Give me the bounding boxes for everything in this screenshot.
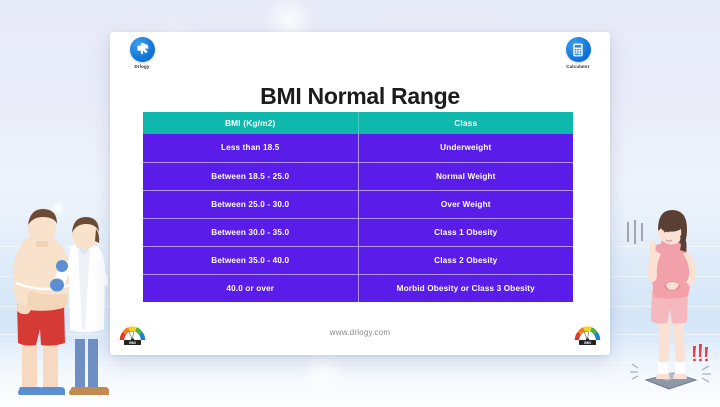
cell-bmi-range: Between 30.0 - 35.0 [143, 218, 358, 246]
illustration-woman-on-weighing-scale [614, 198, 718, 403]
table-header-class: Class [358, 112, 573, 134]
cell-bmi-class: Normal Weight [358, 162, 573, 190]
table-header-row: BMI (Kg/m2) Class [143, 112, 573, 134]
table-row: 40.0 or over Morbid Obesity or Class 3 O… [143, 274, 573, 302]
bmi-gauge-label: BMI [129, 341, 136, 345]
badge-drlogy: Drlogy [120, 32, 164, 86]
cell-bmi-class: Underweight [358, 134, 573, 162]
cell-bmi-class: Morbid Obesity or Class 3 Obesity [358, 274, 573, 302]
page-title: BMI Normal Range [110, 83, 610, 110]
cell-bmi-range: Between 25.0 - 30.0 [143, 190, 358, 218]
cell-bmi-range: Between 35.0 - 40.0 [143, 246, 358, 274]
bmi-info-card: Drlogy Calculator BMI Normal [110, 32, 610, 355]
table-row: Between 30.0 - 35.0 Class 1 Obesity [143, 218, 573, 246]
badge-drlogy-label: Drlogy [134, 65, 149, 69]
table-row: Less than 18.5 Underweight [143, 134, 573, 162]
table-row: Between 25.0 - 30.0 Over Weight [143, 190, 573, 218]
cell-bmi-class: Over Weight [358, 190, 573, 218]
cell-bmi-class: Class 2 Obesity [358, 246, 573, 274]
cell-bmi-class: Class 1 Obesity [358, 218, 573, 246]
badge-calculator-label: Calculator [566, 65, 589, 69]
card-footer: BMI www.drlogy.com BMI [110, 315, 610, 355]
table-row: Between 35.0 - 40.0 Class 2 Obesity [143, 246, 573, 274]
cell-bmi-range: Less than 18.5 [143, 134, 358, 162]
badge-calculator: Calculator [556, 32, 600, 86]
cell-bmi-range: 40.0 or over [143, 274, 358, 302]
bmi-range-table: BMI (Kg/m2) Class Less than 18.5 Underwe… [143, 112, 573, 302]
table-header-bmi: BMI (Kg/m2) [143, 112, 358, 134]
bmi-gauge-icon: BMI [573, 321, 602, 346]
calculator-icon [566, 37, 591, 62]
cell-bmi-range: Between 18.5 - 25.0 [143, 162, 358, 190]
bmi-gauge-label: BMI [584, 341, 591, 345]
table-row: Between 18.5 - 25.0 Normal Weight [143, 162, 573, 190]
illustration-doctor-measuring-obese-man [2, 199, 114, 399]
footer-website-url[interactable]: www.drlogy.com [110, 328, 610, 337]
medical-cross-icon [130, 37, 155, 62]
